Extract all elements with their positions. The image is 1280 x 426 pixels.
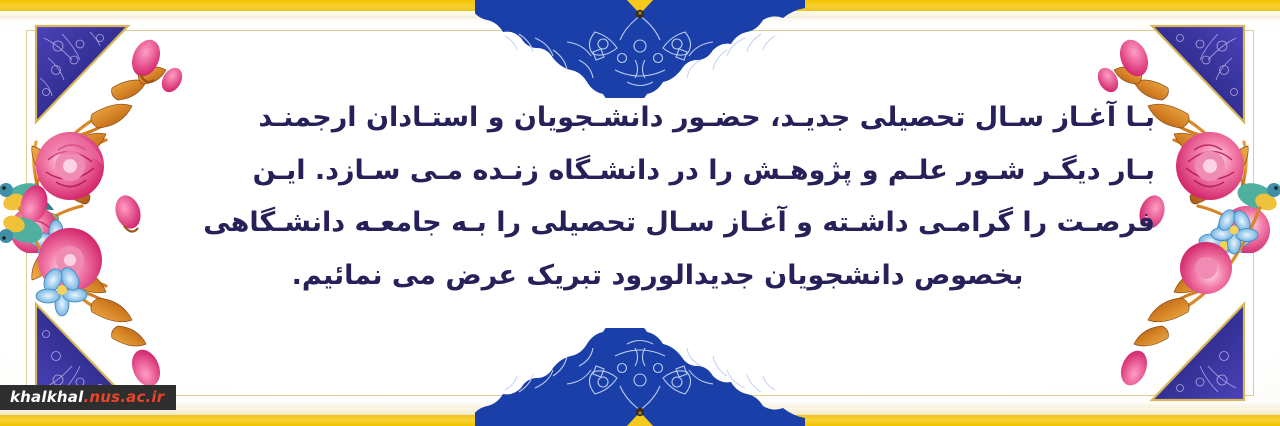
message-line-2: بـار دیگـر شـور علـم و پژوهـش را در دانش… <box>150 145 1155 198</box>
watermark-domain: .nus.ac.ir <box>83 388 164 406</box>
message-text-block: بـا آغـاز سـال تحصیلی جدیـد، حضـور دانشـ… <box>150 92 1155 303</box>
watermark-site-name: khalkhal <box>10 388 83 406</box>
message-line-1: بـا آغـاز سـال تحصیلی جدیـد، حضـور دانشـ… <box>150 92 1155 145</box>
message-line-3: فرصـت را گرامـی داشـته و آغـاز سـال تحصی… <box>150 197 1155 250</box>
site-watermark: khalkhal.nus.ac.ir <box>0 385 176 410</box>
bottom-medallion-ornament <box>475 328 805 426</box>
banner-root: بـا آغـاز سـال تحصیلی جدیـد، حضـور دانشـ… <box>0 0 1280 426</box>
message-line-4: بخصوص دانشجویان جدیدالورود تبریک عرض می … <box>150 250 1155 303</box>
top-medallion-ornament <box>475 0 805 98</box>
